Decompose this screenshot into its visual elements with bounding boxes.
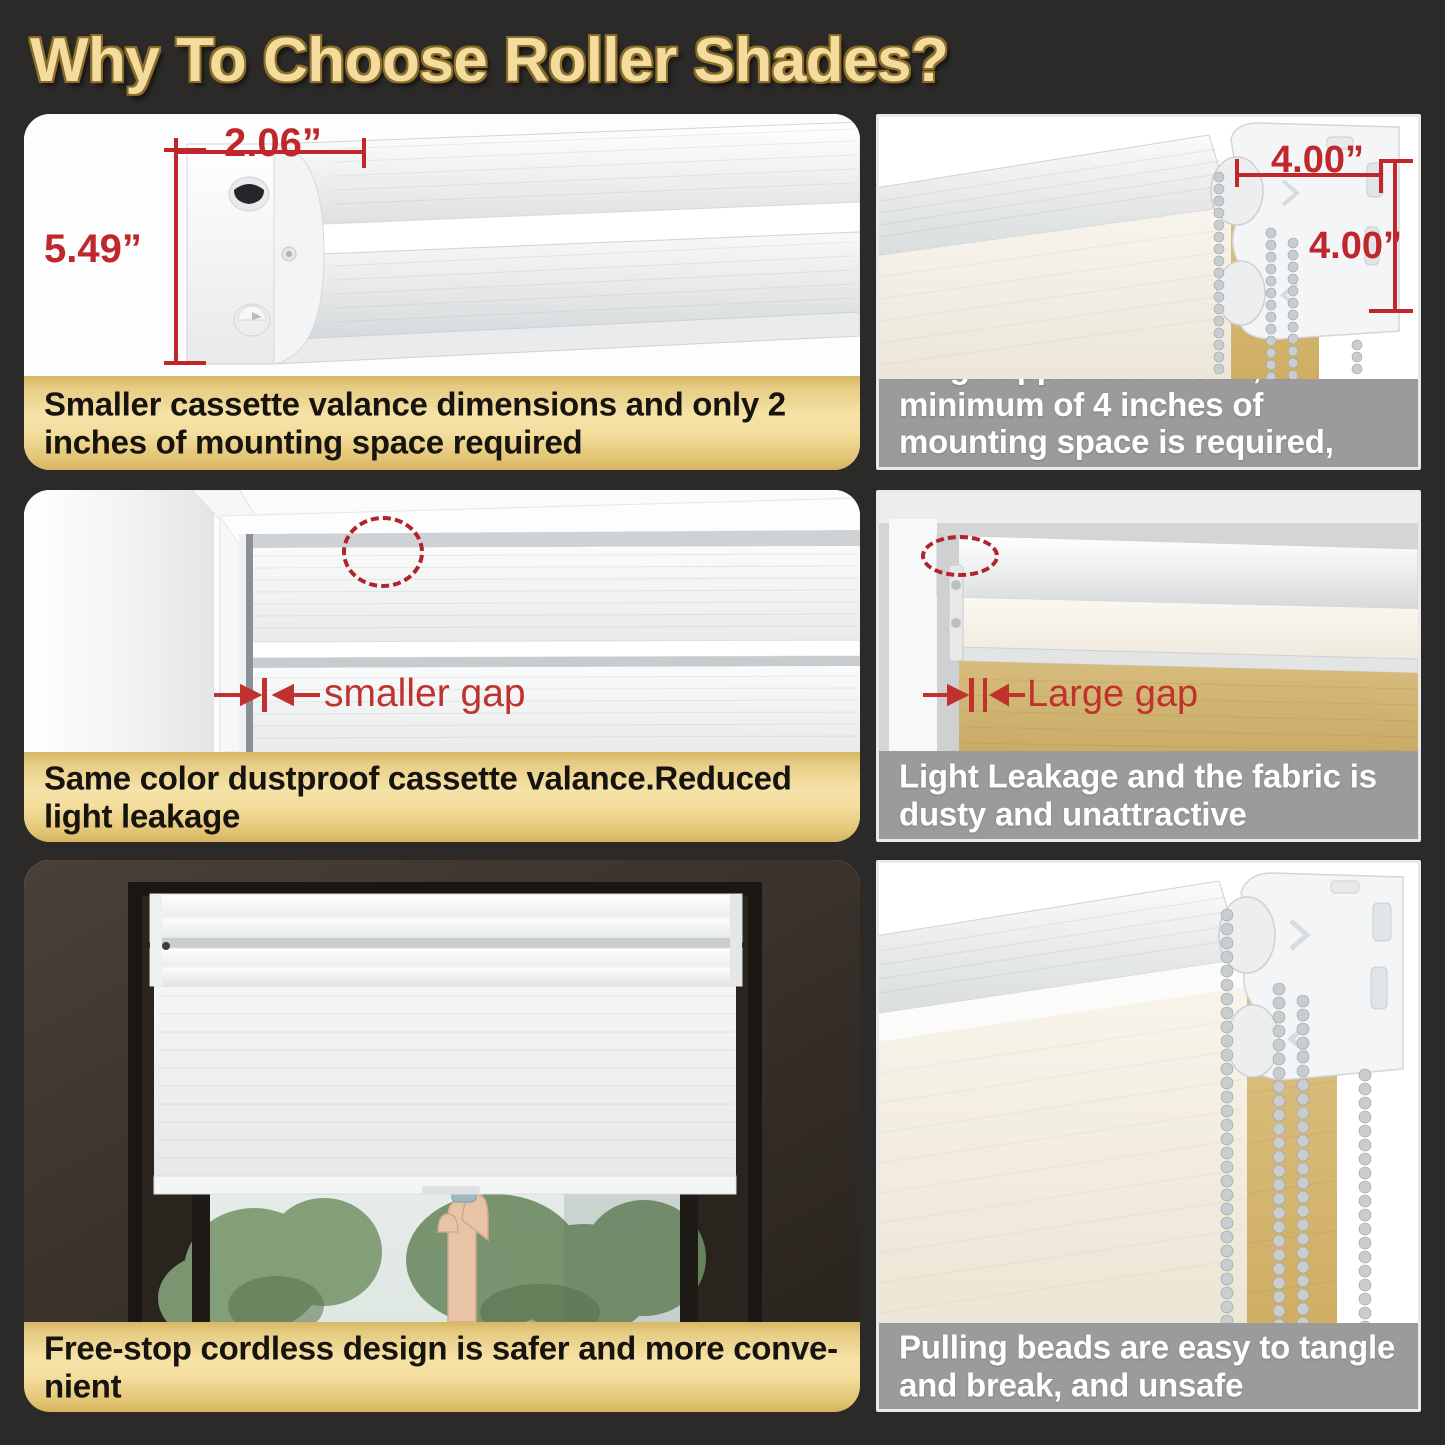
panel-caption-text: Free-stop cordless design is safer and m… [44,1329,846,1404]
beam-height-label: 4.00” [1309,225,1402,268]
width-dimension-label: 2.06” [224,121,322,166]
panel-caption: Large upper beam size, a minimum of 4 in… [879,379,1418,467]
width-dimension-tick-right [362,138,366,168]
panel-photo: 4.00” 4.00” [879,117,1418,379]
beam-width-tick-right [1379,159,1383,193]
height-dimension-label: 5.49” [44,227,142,272]
height-dimension-tick-top [164,148,206,152]
panel-caption: Free-stop cordless design is safer and m… [24,1322,860,1412]
panel-caption: Smaller cassette valance dimensions and … [24,376,860,470]
beam-width-label: 4.00” [1271,139,1364,182]
infographic-canvas: Why To Choose Roller Shades? [0,0,1445,1445]
panel-caption: Light Leakage and the fabric is dusty an… [879,751,1418,839]
panel-photo [24,860,860,1322]
beam-width-tick-left [1235,159,1239,187]
gap-callout-label: smaller gap [324,672,526,716]
panel-cordless-design: Free-stop cordless design is safer and m… [24,860,860,1412]
height-dimension-tick-bottom [164,361,206,365]
panel-large-upper-beam: 4.00” 4.00” Large upper beam size, a min… [876,114,1421,470]
panel-caption-text: Pulling beads are easy to tangle and bre… [899,1328,1404,1403]
gap-callout-label: Large gap [1027,673,1198,716]
page-title: Why To Choose Roller Shades? [30,22,1030,100]
panel-caption-text: Light Leakage and the fabric is dusty an… [899,757,1404,832]
beam-height-tick-top [1381,159,1413,163]
gap-highlight-circle [921,535,999,577]
panel-pulling-beads: Pulling beads are easy to tangle and bre… [876,860,1421,1412]
panel-caption: Same color dustproof cassette valance.Re… [24,752,860,842]
panel-caption-text: Smaller cassette valance dimensions and … [44,385,846,460]
gap-highlight-circle [342,516,424,588]
panel-photo: 2.06” 5.49” [24,114,860,376]
panel-photo: Large gap [879,493,1418,755]
beam-height-tick-bottom [1369,309,1413,313]
panel-cassette-dimensions: 2.06” 5.49” Smaller cassette valance dim… [24,114,860,470]
height-dimension-line [174,150,178,365]
panel-caption-text: Large upper beam size, a minimum of 4 in… [899,379,1404,467]
panel-caption-text: Same color dustproof cassette valance.Re… [44,759,846,834]
panel-photo [879,863,1418,1329]
panel-smaller-gap: smaller gap Same color dustproof cassett… [24,490,860,842]
panel-photo: smaller gap [24,490,860,752]
panel-caption: Pulling beads are easy to tangle and bre… [879,1323,1418,1409]
panel-light-leakage: Large gap Light Leakage and the fabric i… [876,490,1421,842]
